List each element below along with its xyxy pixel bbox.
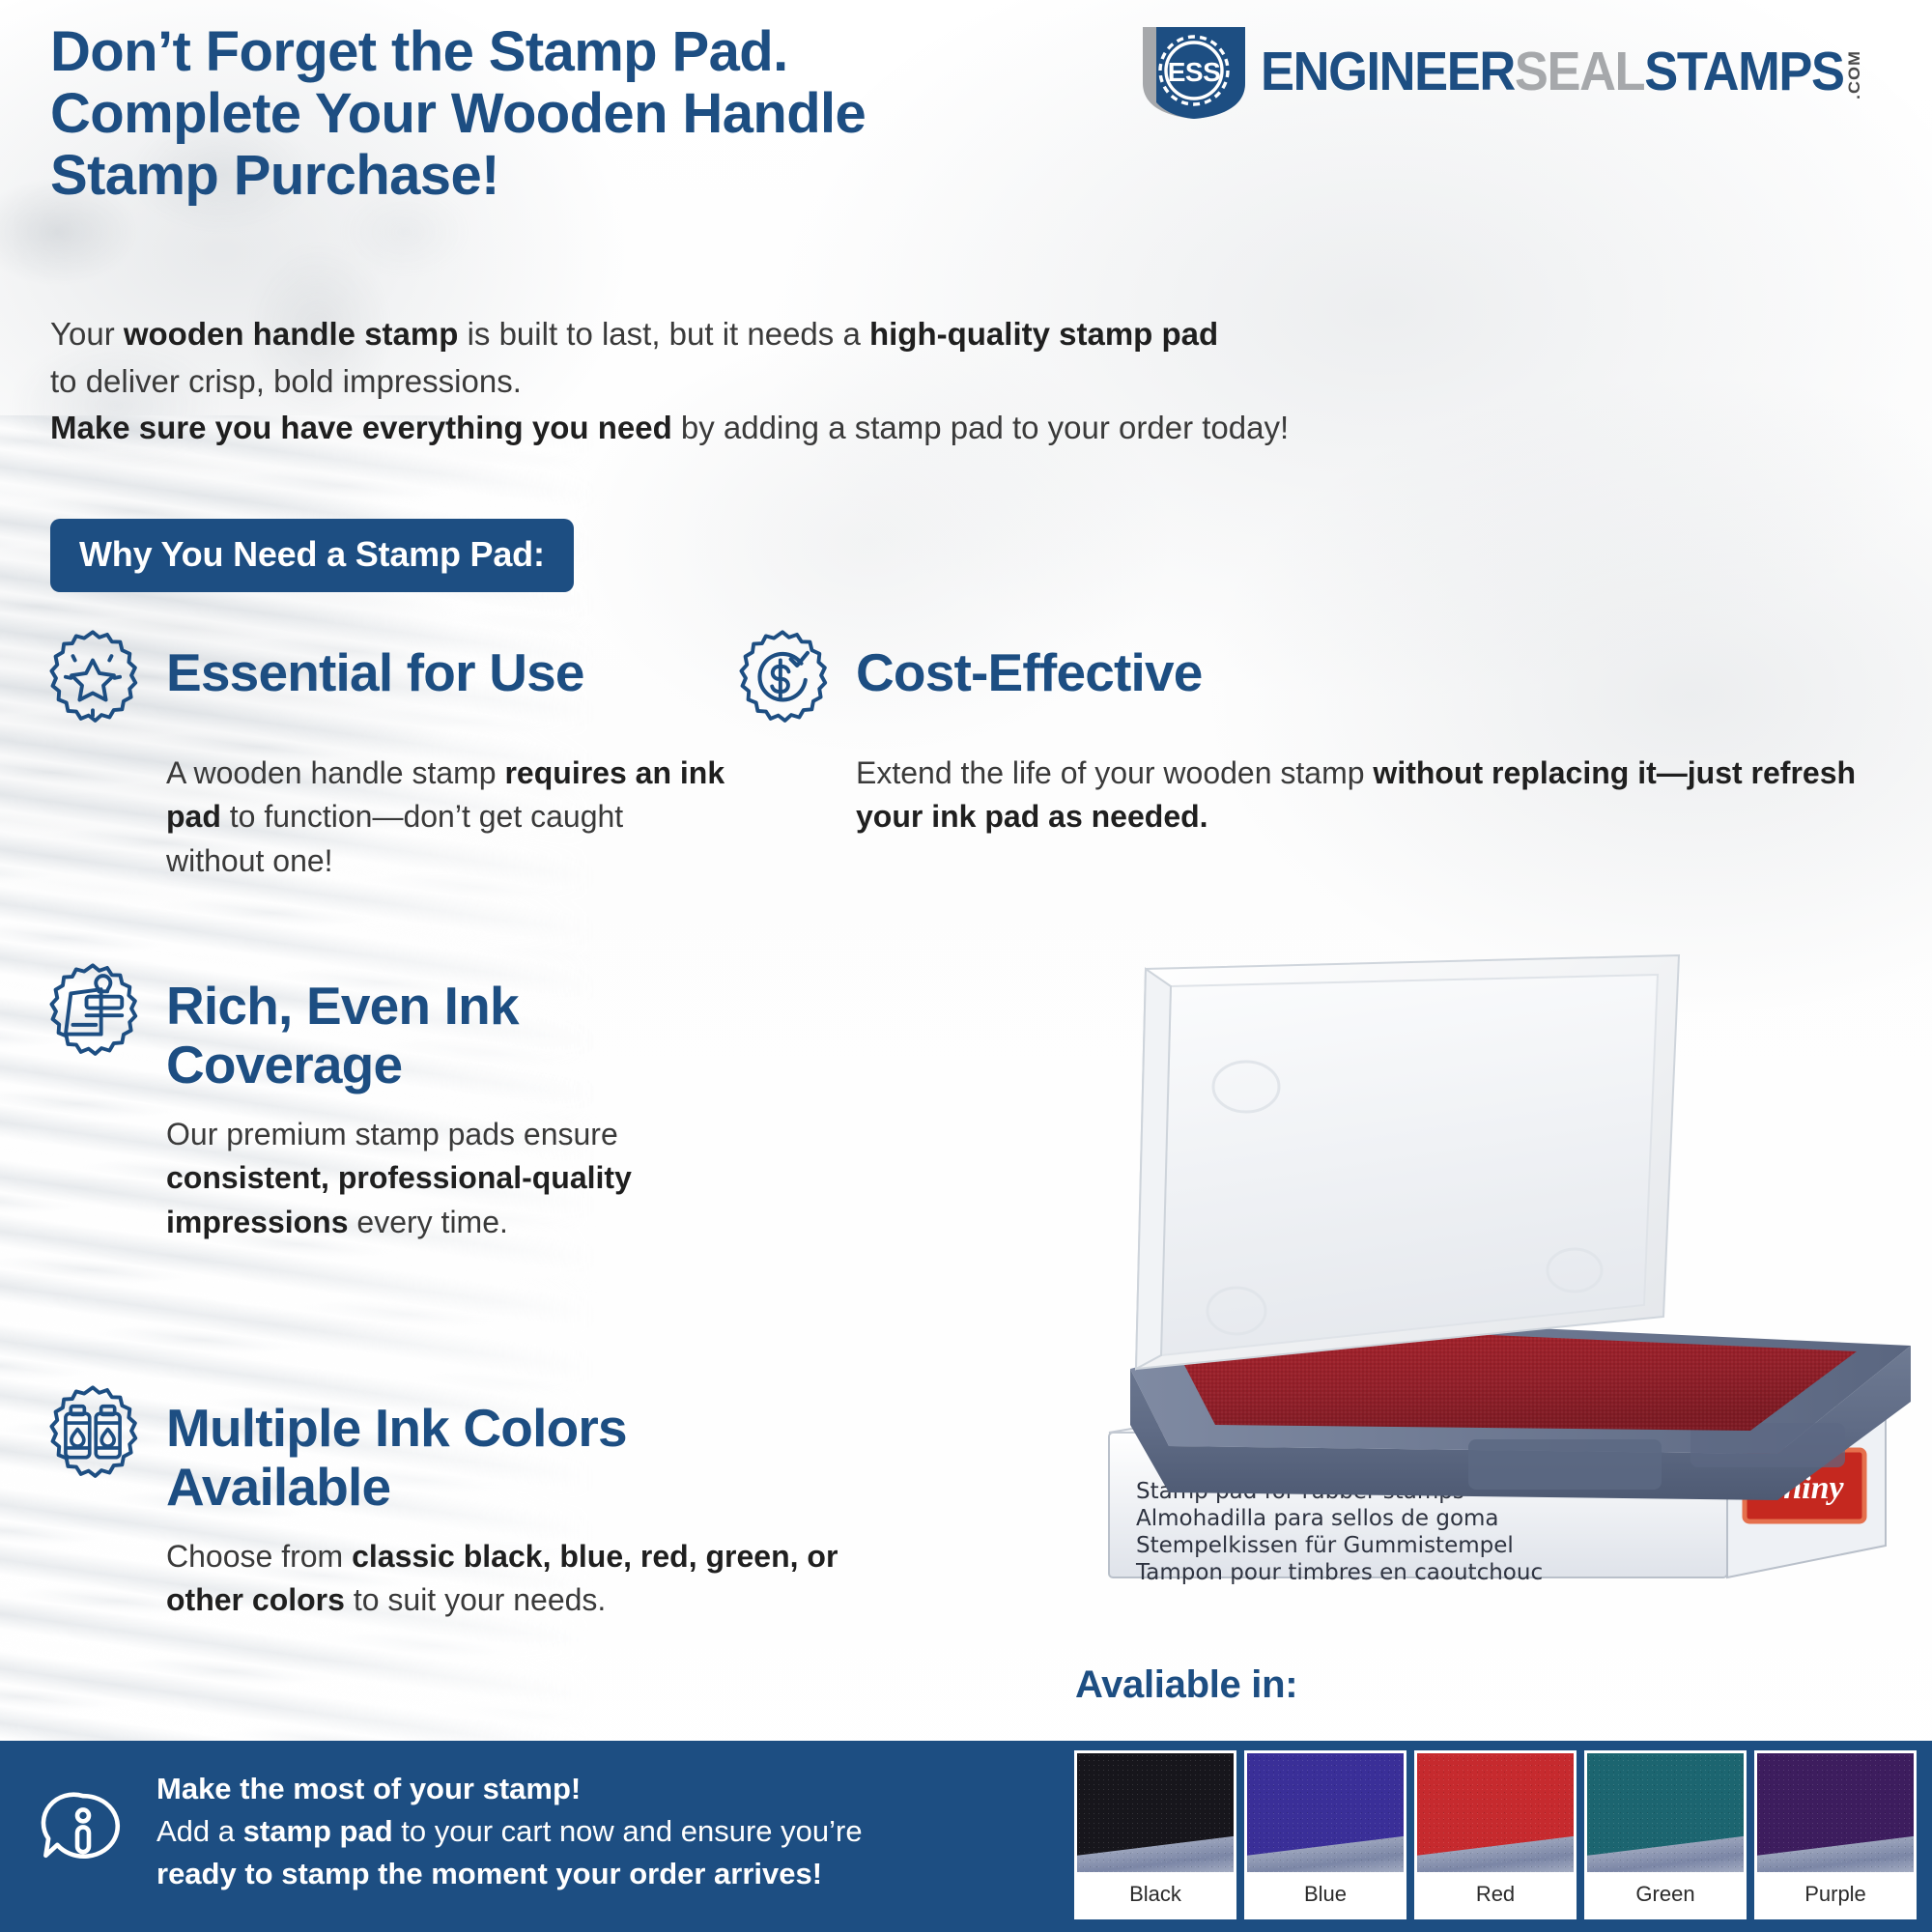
intro-3a: Make sure you have everything you need: [50, 410, 672, 445]
swatch-chip: [1757, 1753, 1914, 1872]
swatch-chip: [1587, 1753, 1744, 1872]
feature-title: Essential for Use: [166, 628, 584, 702]
feature-title: Rich, Even Ink Coverage: [166, 961, 717, 1094]
feature-cost-effective: Cost-Effective Extend the life of your w…: [730, 628, 1909, 839]
swatch-green[interactable]: Green: [1584, 1750, 1747, 1919]
feature-header: Multiple Ink Colors Available: [41, 1383, 813, 1516]
footer-2a: Add a: [156, 1814, 243, 1848]
feature-header: Essential for Use: [41, 628, 717, 732]
footer-text: Make the most of your stamp! Add a stamp…: [156, 1768, 863, 1895]
feature-header: Cost-Effective: [730, 628, 1909, 732]
feature-rich-even-ink-coverage: Rich, Even Ink Coverage Our premium stam…: [41, 961, 717, 1244]
brand-wordmark: ENGINEER SEAL STAMPS .COM: [1261, 44, 1862, 99]
ink-bottles-badge-icon: [41, 1383, 145, 1488]
swatch-chip: [1417, 1753, 1574, 1872]
intro-line-1: Your wooden handle stamp is built to las…: [50, 311, 1403, 358]
intro-line-3: Make sure you have everything you need b…: [50, 405, 1403, 452]
box-line-4: Tampon pour timbres en caoutchouc: [1135, 1560, 1543, 1585]
intro-1a: Your: [50, 316, 124, 352]
infographic-page: Don’t Forget the Stamp Pad. Complete You…: [0, 0, 1932, 1932]
feature-body: Extend the life of your wooden stamp wit…: [856, 752, 1909, 839]
product-photo-stamp-pad: C-S Shiny Stamp pad for rubber stamps Al…: [1101, 952, 1932, 1594]
swatch-black[interactable]: Black: [1074, 1750, 1236, 1919]
footer-2c: to your cart now and ensure you’re: [393, 1814, 863, 1848]
svg-text:ESS: ESS: [1168, 57, 1221, 87]
feature-title: Multiple Ink Colors Available: [166, 1383, 813, 1516]
logo-word-engineer: ENGINEER: [1261, 44, 1515, 99]
ess-gear-shield-icon: ESS: [1137, 21, 1251, 122]
swatch-label: Green: [1587, 1872, 1744, 1917]
page-title: Don’t Forget the Stamp Pad. Complete You…: [50, 21, 1190, 206]
intro-paragraph: Your wooden handle stamp is built to las…: [50, 311, 1403, 452]
feature-multiple-ink-colors: Multiple Ink Colors Available Choose fro…: [41, 1383, 813, 1623]
feature-body-a: Our premium stamp pads ensure: [166, 1117, 618, 1151]
intro-3b: by adding a stamp pad to your order toda…: [672, 410, 1289, 445]
swatch-label: Black: [1077, 1872, 1234, 1917]
swatch-chip: [1247, 1753, 1404, 1872]
headline-line-2: Complete Your Wooden Handle: [50, 83, 1190, 145]
intro-line-2: to deliver crisp, bold impressions.: [50, 358, 1403, 406]
logo-tld: .COM: [1846, 47, 1862, 99]
feature-body-a: Choose from: [166, 1539, 352, 1574]
feature-essential-for-use: Essential for Use A wooden handle stamp …: [41, 628, 717, 883]
brand-logo[interactable]: ESS ENGINEER SEAL STAMPS .COM: [1137, 21, 1915, 122]
feature-body: A wooden handle stamp requires an ink pa…: [166, 752, 726, 883]
feature-body: Choose from classic black, blue, red, gr…: [166, 1535, 842, 1623]
logo-word-stamps: STAMPS: [1644, 44, 1843, 99]
dollar-check-badge-icon: [730, 628, 835, 732]
swatch-label: Red: [1417, 1872, 1574, 1917]
footer-content: Make the most of your stamp! Add a stamp…: [39, 1768, 863, 1895]
logo-word-seal: SEAL: [1515, 44, 1644, 99]
footer-line-2: Add a stamp pad to your cart now and ens…: [156, 1810, 863, 1853]
headline-line-3: Stamp Purchase!: [50, 145, 1190, 207]
feature-body-a: Extend the life of your wooden stamp: [856, 755, 1373, 790]
info-speech-bubble-icon: [39, 1787, 128, 1876]
swatch-blue[interactable]: Blue: [1244, 1750, 1406, 1919]
ink-color-swatch-list: Black Blue Red Green Purple: [1074, 1750, 1917, 1919]
headline-line-1: Don’t Forget the Stamp Pad.: [50, 21, 1190, 83]
intro-1d: high-quality stamp pad: [869, 316, 1218, 352]
footer-2b: stamp pad: [243, 1814, 393, 1848]
rubber-stamp-badge-icon: [41, 961, 145, 1065]
feature-body-c: to suit your needs.: [345, 1582, 606, 1617]
intro-1b: wooden handle stamp: [124, 316, 459, 352]
feature-body-a: A wooden handle stamp: [166, 755, 504, 790]
feature-title: Cost-Effective: [856, 628, 1203, 702]
swatch-chip: [1077, 1753, 1234, 1872]
box-line-2: Almohadilla para sellos de goma: [1136, 1506, 1499, 1531]
star-badge-icon: [41, 628, 145, 732]
swatch-purple[interactable]: Purple: [1754, 1750, 1917, 1919]
why-you-need-banner: Why You Need a Stamp Pad:: [50, 519, 574, 592]
intro-1c: is built to last, but it needs a: [458, 316, 869, 352]
swatch-label: Purple: [1757, 1872, 1914, 1917]
footer-line-1: Make the most of your stamp!: [156, 1768, 863, 1810]
swatch-label: Blue: [1247, 1872, 1404, 1917]
swatch-red[interactable]: Red: [1414, 1750, 1577, 1919]
feature-body: Our premium stamp pads ensure consistent…: [166, 1113, 707, 1244]
feature-header: Rich, Even Ink Coverage: [41, 961, 717, 1094]
box-line-3: Stempelkissen für Gummistempel: [1136, 1533, 1514, 1558]
stamp-pad-illustration: C-S Shiny Stamp pad for rubber stamps Al…: [1101, 952, 1932, 1594]
feature-body-c: every time.: [349, 1205, 508, 1239]
feature-body-c: to function—don’t get caught without one…: [166, 799, 623, 877]
footer-line-3: ready to stamp the moment your order arr…: [156, 1853, 863, 1895]
available-in-label: Avaliable in:: [1075, 1663, 1297, 1707]
